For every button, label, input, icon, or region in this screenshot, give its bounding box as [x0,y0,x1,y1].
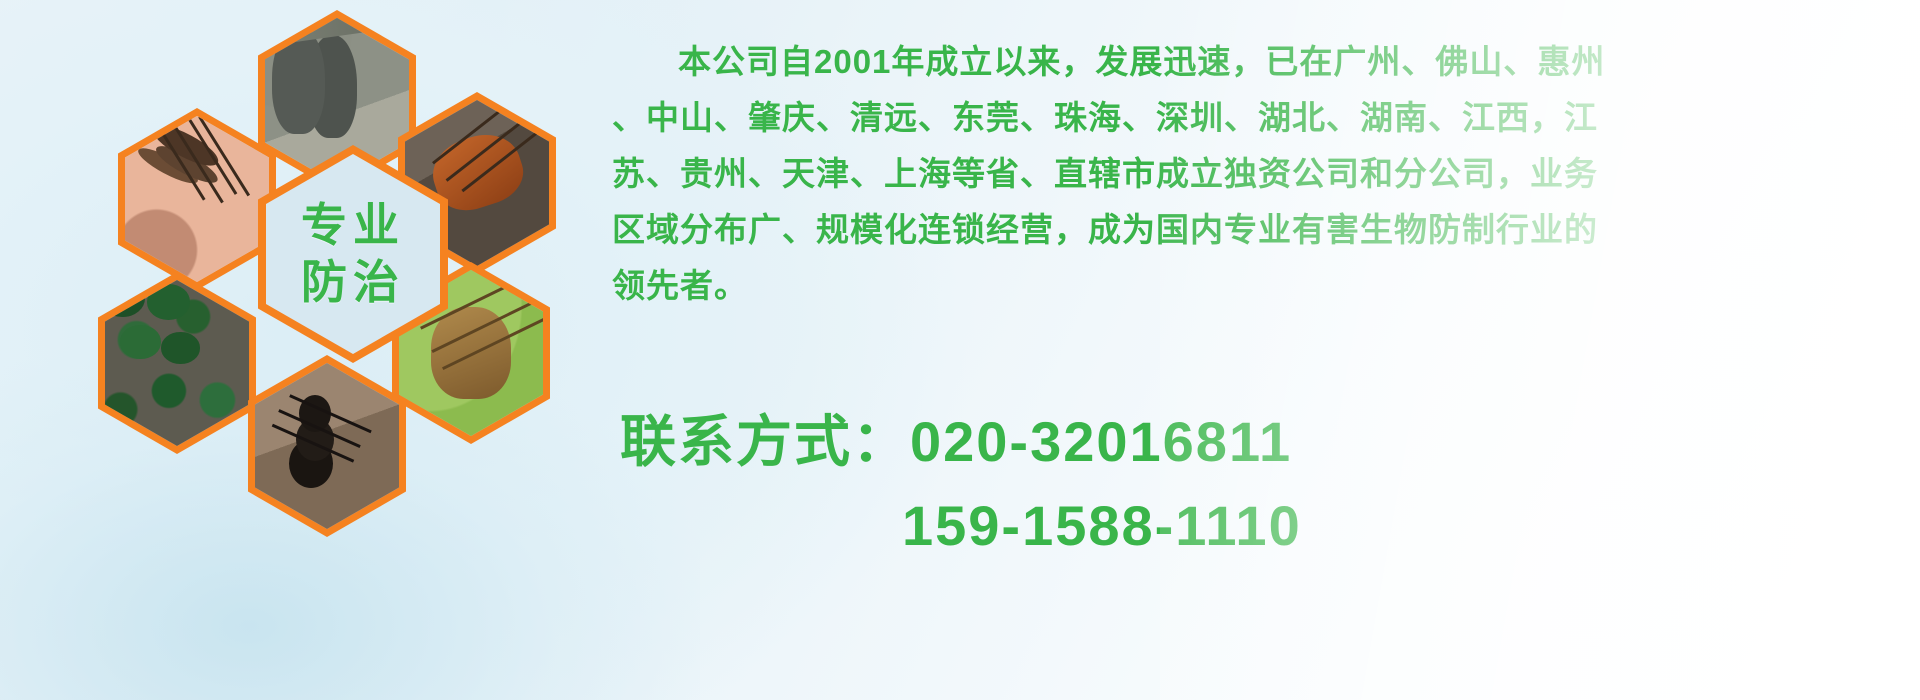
description-line-3: 苏、贵州、天津、上海等省、直辖市成立独资公司和分公司，业务 [612,146,1912,202]
promo-banner: 专业 防治 本公司自2001年成立以来，发展迅速，已在广州、佛山、惠州 、中山、… [0,0,1920,700]
contact-secondary-line: 159-1588-1110 [620,484,1920,568]
flies-photo [105,280,249,446]
ant-artwork [255,363,399,529]
description-line-4: 区域分布广、规模化连锁经营，成为国内专业有害生物防制行业的 [612,202,1912,258]
mosquito-photo [125,116,269,282]
slogan-line-2: 防治 [301,254,405,312]
contact-phone-primary[interactable]: 020-32016811 [910,410,1292,473]
hex-cell-ant [248,355,406,537]
honeycomb-cluster: 专业 防治 [0,0,600,700]
contact-primary-line: 联系方式：020-32016811 [620,400,1920,484]
description-line-5: 领先者。 [612,258,1912,314]
contact-phone-secondary[interactable]: 159-1588-1110 [902,494,1302,557]
hex-cell-flies [98,272,256,454]
ant-photo [255,363,399,529]
slogan-line-1: 专业 [301,197,405,255]
hex-cell-mosquito [118,108,276,290]
description-line-2: 、中山、肇庆、清远、东莞、珠海、深圳、湖北、湖南、江西，江 [612,90,1912,146]
contact-block: 联系方式：020-32016811 159-1588-1110 [620,400,1920,568]
flies-artwork [105,280,249,446]
company-description: 本公司自2001年成立以来，发展迅速，已在广州、佛山、惠州 、中山、肇庆、清远、… [612,34,1912,314]
mosquito-artwork [125,116,269,282]
contact-label: 联系方式： [620,410,910,473]
description-line-1: 本公司自2001年成立以来，发展迅速，已在广州、佛山、惠州 [612,34,1912,90]
